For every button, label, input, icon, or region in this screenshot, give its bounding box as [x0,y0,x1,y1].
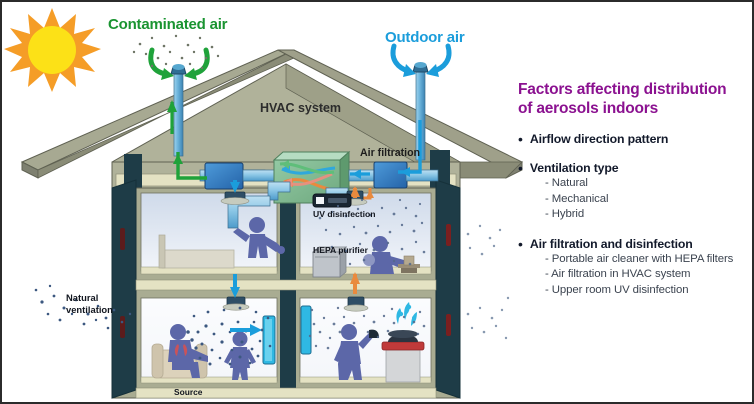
factor-sub-item: - Mechanical [545,192,752,208]
label-source: Source [174,387,202,397]
sub-text: Air filtration in HVAC system [551,268,690,280]
label-hepa-purifier: HEPA purifier [313,245,368,255]
factor-label-ventilation: Ventilation type [530,161,618,176]
factor-sub-item: - Hybrid [545,207,752,223]
factor-sub-item: - Natural [545,176,752,192]
air-filtration-unit [374,162,407,188]
factor-item-filtration: • Air filtration and disinfection - Port… [518,237,752,299]
sub-dash: - [545,268,549,280]
sub-text: Portable air cleaner with HEPA filters [552,253,733,265]
sub-dash: - [545,208,549,220]
label-air-filtration: Air filtration [360,147,420,159]
factor-label-filtration: Air filtration and disinfection [530,237,693,252]
open-window-lower-left [263,316,275,364]
sun-icon [4,8,101,92]
label-natural-ventilation-line2: ventilation [66,304,113,316]
sub-dash: - [545,193,549,205]
diffuser-lower-right [344,297,368,311]
bullet-dot-icon: • [518,237,523,252]
sub-dash: - [545,177,549,189]
panel-heading-line1: Factors affecting distribution [518,80,752,99]
sub-text: Natural [552,177,588,189]
label-contaminated-air: Contaminated air [108,16,227,33]
factor-item-ventilation: • Ventilation type - Natural - Mechanica… [518,161,752,223]
bullet-dot-icon: • [518,161,523,176]
factor-item-airflow: • Airflow direction pattern [518,132,752,147]
factor-sub-item: - Upper room UV disinfection [545,283,752,299]
factor-sub-item: - Portable air cleaner with HEPA filters [545,252,752,268]
bullet-dot-icon: • [518,132,523,147]
factor-label-airflow: Airflow direction pattern [530,132,668,147]
label-natural-ventilation-line1: Natural [66,292,113,304]
diffuser-lower-left [223,297,249,310]
open-window-lower-right [301,306,311,354]
aerosol-outdoor-right [467,225,509,339]
sub-text: Hybrid [552,208,584,220]
sub-text: Mechanical [552,193,609,205]
panel-heading-line2: of aerosols indoors [518,99,752,118]
factors-panel: Factors affecting distribution of aeroso… [518,80,752,298]
sub-text: Upper room UV disinfection [552,284,689,296]
sub-dash: - [545,284,549,296]
factor-sub-item: - Air filtration in HVAC system [545,267,752,283]
panel-heading: Factors affecting distribution of aeroso… [518,80,752,118]
label-uv-disinfection: UV disinfection [313,209,376,219]
uv-lamp [313,194,351,207]
label-hvac-system: HVAC system [260,101,341,115]
diffuser-upper-left [221,192,249,205]
sub-dash: - [545,253,549,265]
label-natural-ventilation: Natural ventilation [66,292,113,316]
intake-stack-left [174,74,183,156]
label-outdoor-air: Outdoor air [385,29,464,46]
infographic-canvas: Contaminated air Outdoor air HVAC system… [0,0,754,404]
